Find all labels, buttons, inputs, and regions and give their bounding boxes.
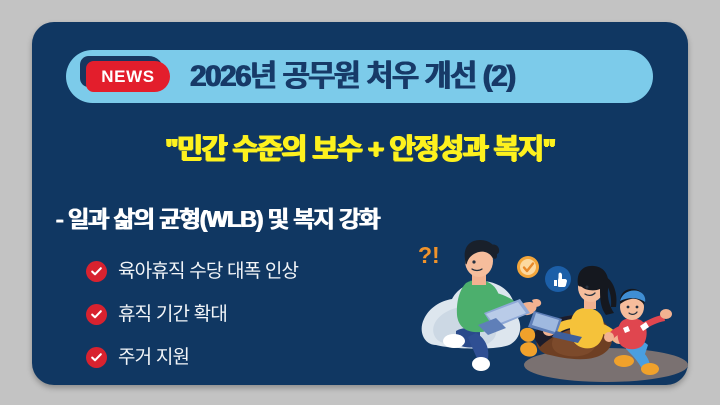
slide-canvas: NEWS 2026년 공무원 처우 개선 (2) "민간 수준의 보수 + 안정… <box>0 0 720 405</box>
check-circle-icon <box>86 261 107 282</box>
list-item-label: 육아휴직 수당 대폭 인상 <box>118 262 298 281</box>
bullet-list: 육아휴직 수당 대폭 인상 휴직 기간 확대 주거 지원 <box>86 258 416 385</box>
news-badge-body: NEWS <box>86 61 170 92</box>
subtitle-text: "민간 수준의 보수 + 안정성과 복지" <box>32 135 688 163</box>
list-item: 주거 지원 <box>86 344 416 370</box>
check-circle-icon <box>86 304 107 325</box>
news-badge-label: NEWS <box>101 68 154 85</box>
news-badge: NEWS <box>86 61 170 92</box>
header-banner: NEWS 2026년 공무원 처우 개선 (2) <box>66 50 653 103</box>
question-exclamation-mark: ?! <box>418 242 440 268</box>
list-item: 휴직 기간 확대 <box>86 301 416 327</box>
people-working-from-home-illustration: ?! <box>410 227 688 385</box>
content-card: NEWS 2026년 공무원 처우 개선 (2) "민간 수준의 보수 + 안정… <box>32 22 688 385</box>
check-circle-icon <box>86 347 107 368</box>
list-item: 육아휴직 수당 대폭 인상 <box>86 258 416 284</box>
page-title: 2026년 공무원 처우 개선 (2) <box>190 62 515 92</box>
section-heading: - 일과 삶의 균형(WLB) 및 복지 강화 <box>56 208 379 231</box>
list-item-label: 휴직 기간 확대 <box>118 305 227 324</box>
list-item-label: 주거 지원 <box>118 348 189 367</box>
